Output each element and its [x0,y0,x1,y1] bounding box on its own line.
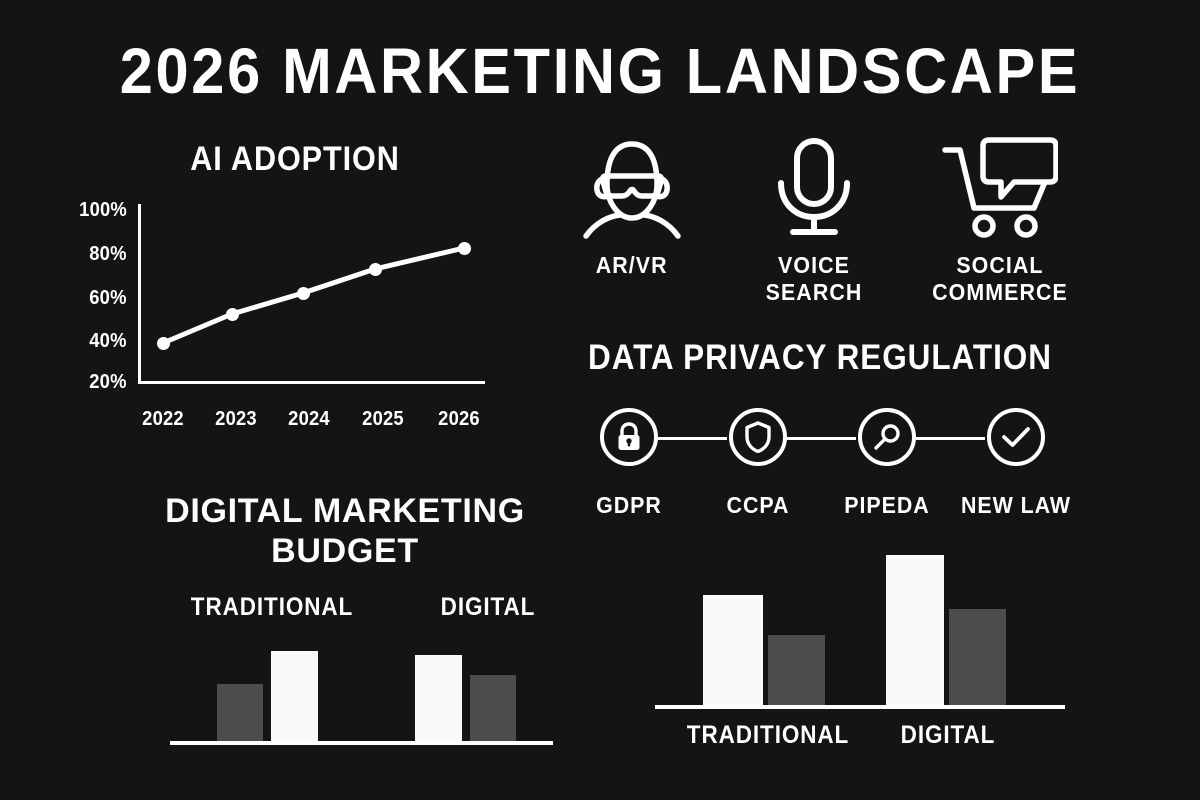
privacy-node-gdpr[interactable]: GDPR [600,408,658,466]
bar-digital-white [886,555,944,705]
privacy-node-pipeda[interactable]: PIPEDA [858,408,916,466]
privacy-node-label: GDPR [596,492,662,519]
trend-label: AR/VR [596,252,668,279]
x-tick-label: 2026 [422,408,496,431]
privacy-node-ccpa[interactable]: CCPA [729,408,787,466]
infographic-canvas: 2026 MARKETING LANDSCAPE AI ADOPTION 100… [0,0,1200,800]
ai-adoption-title: AI ADOPTION [84,142,507,178]
budget-bar-chart-left: TRADITIONAL DIGITAL [110,585,570,750]
vr-headset-icon [582,136,682,240]
trend-item-social-commerce[interactable]: SOCIAL COMMERCE [912,136,1088,306]
magnifier-icon [858,408,916,466]
x-tick-label: 2023 [199,408,273,431]
shopping-cart-chat-icon [942,136,1058,240]
privacy-node-label: NEW LAW [961,492,1071,519]
page-title: 2026 MARKETING LANDSCAPE [42,38,1158,105]
ai-adoption-line-chart: 100% 80% 60% 40% 20% 2022 2023 2024 2025… [60,190,520,440]
microphone-icon [771,136,857,240]
bar-digital-white [415,655,462,741]
x-tick-label: 2022 [126,408,200,431]
bar-traditional-white [271,651,318,741]
data-point [369,263,382,276]
x-tick-label: 2025 [346,408,420,431]
trend-item-ar-vr[interactable]: AR/VR [552,136,712,279]
budget-chart-title: DIGITAL MARKETING BUDGET [110,492,580,572]
privacy-title: DATA PRIVACY REGULATION [577,340,1063,377]
data-point [297,287,310,300]
bar-traditional-gray [768,635,825,705]
trend-label: SOCIAL COMMERCE [932,252,1068,306]
lock-icon [600,408,658,466]
trend-label: VOICE SEARCH [734,252,894,306]
bar-traditional-gray [217,684,263,741]
data-point [157,337,170,350]
bar-group-label: TRADITIONAL [173,593,371,622]
ai-adoption-polyline [60,190,520,440]
privacy-node-label: PIPEDA [844,492,929,519]
bar-chart-baseline [655,705,1065,709]
check-circle-icon [987,408,1045,466]
privacy-node-new-law[interactable]: NEW LAW [987,408,1045,466]
bar-group-label: DIGITAL [876,721,1020,750]
budget-bar-chart-right: TRADITIONAL DIGITAL [650,545,1070,755]
data-point [226,308,239,321]
x-tick-label: 2024 [272,408,346,431]
bar-digital-gray [470,675,516,741]
bar-chart-baseline [170,741,553,745]
shield-icon [729,408,787,466]
privacy-node-label: CCPA [727,492,790,519]
data-point [458,242,471,255]
bar-group-label: DIGITAL [407,593,569,622]
bar-digital-gray [949,609,1006,705]
bar-group-label: TRADITIONAL [678,721,858,750]
bar-traditional-white [703,595,763,705]
privacy-regulation-chain: GDPR CCPA PIPEDA [575,392,1075,502]
trend-item-voice-search[interactable]: VOICE SEARCH [728,136,900,306]
